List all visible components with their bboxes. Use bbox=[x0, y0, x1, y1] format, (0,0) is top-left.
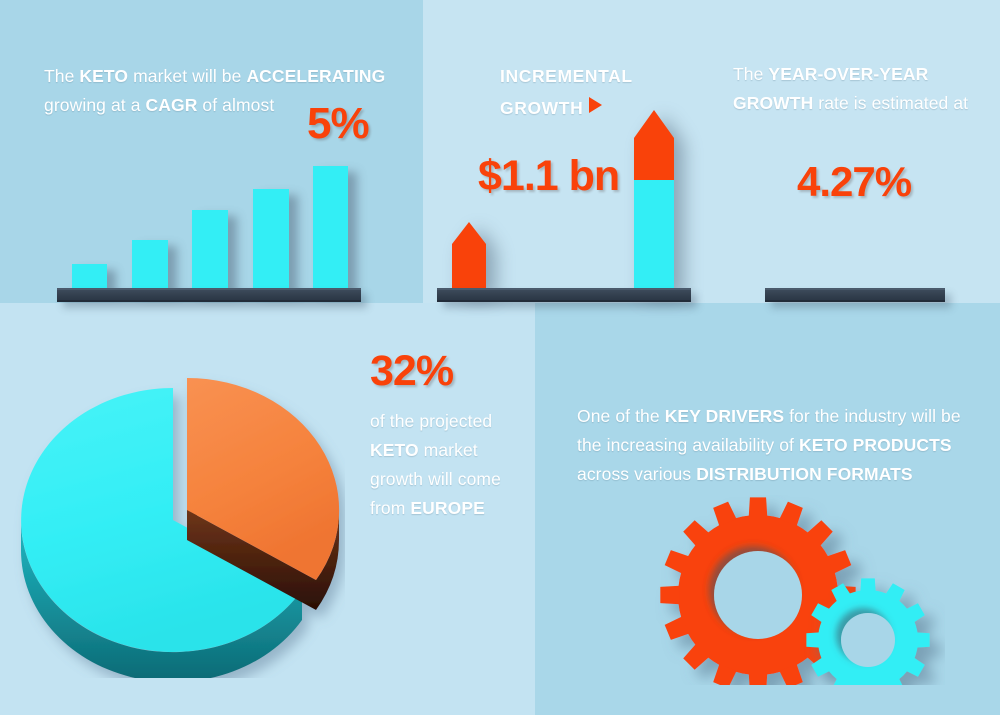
triangle-right-icon bbox=[589, 97, 602, 113]
bar-1 bbox=[72, 264, 107, 290]
gears-illustration bbox=[655, 495, 945, 685]
yoy-figure: 4.27% bbox=[797, 158, 911, 206]
key-drivers-statement: One of the KEY DRIVERS for the industry … bbox=[577, 402, 967, 489]
infographic-canvas: The KETO market will be ACCELERATING gro… bbox=[0, 0, 1000, 715]
yoy-statement: The YEAR-OVER-YEAR GROWTH rate is estima… bbox=[733, 60, 973, 118]
bar-2 bbox=[132, 240, 168, 290]
europe-share-statement: of the projected KETO market growth will… bbox=[370, 407, 530, 523]
bar-5 bbox=[313, 166, 348, 290]
rocket-chart-baseline bbox=[437, 288, 691, 302]
pie-chart-europe bbox=[5, 358, 345, 678]
incremental-growth-heading: INCREMENTAL GROWTH bbox=[500, 60, 715, 124]
rocket-small bbox=[448, 222, 490, 292]
bar-3 bbox=[192, 210, 228, 290]
bar-4 bbox=[253, 189, 289, 290]
triangle-chart-baseline bbox=[765, 288, 945, 302]
incremental-growth-line1: INCREMENTAL bbox=[500, 66, 633, 86]
rocket-tall bbox=[630, 110, 678, 292]
bar-chart-baseline bbox=[57, 288, 361, 302]
europe-share-figure: 32% bbox=[370, 347, 453, 396]
incremental-growth-line2: GROWTH bbox=[500, 98, 583, 118]
incremental-growth-figure: $1.1 bn bbox=[478, 152, 619, 201]
cagr-figure: 5% bbox=[307, 99, 369, 149]
